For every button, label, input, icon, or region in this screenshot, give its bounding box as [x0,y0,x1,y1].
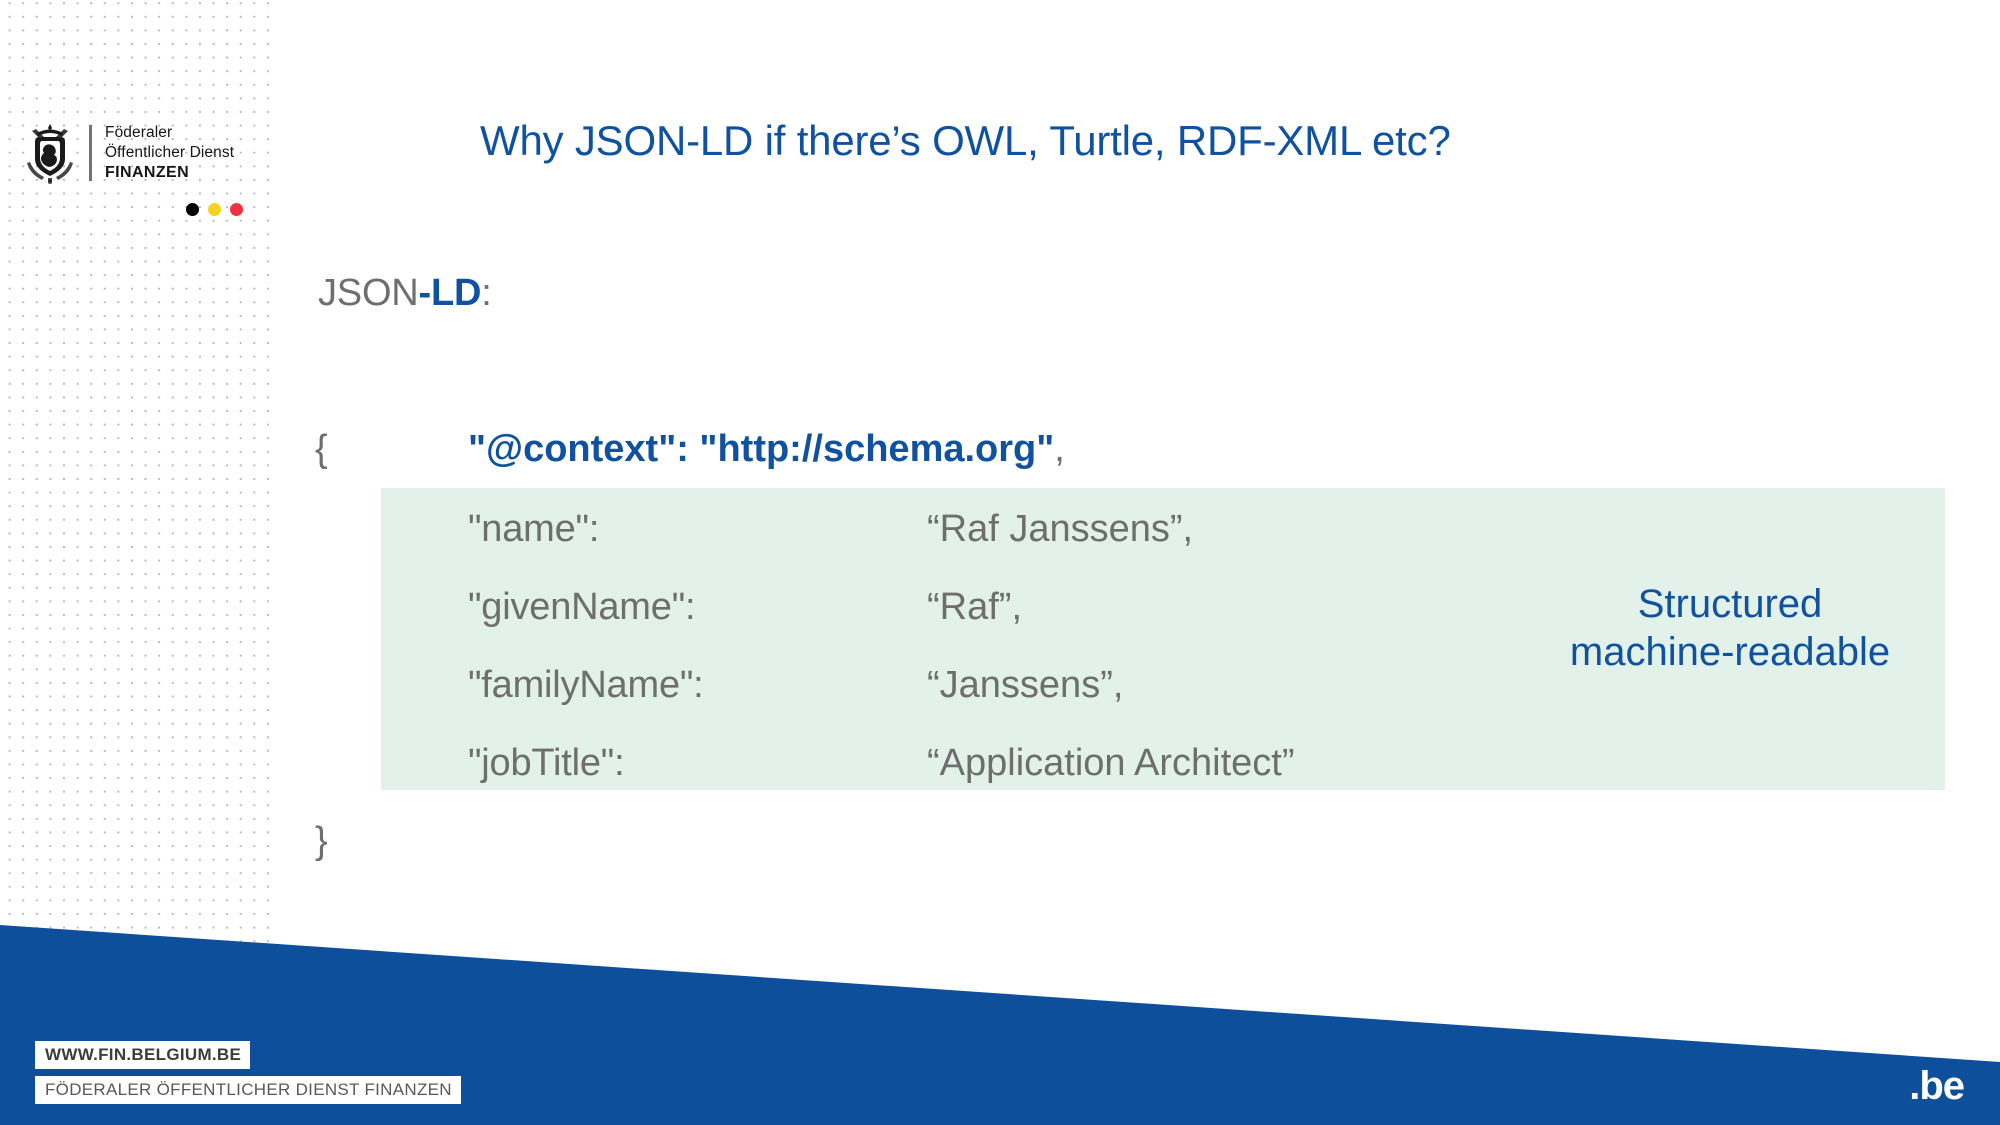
dot-red [230,203,243,216]
pair-key-job-title: "jobTitle": [468,742,624,785]
flag-dots [186,203,243,216]
annotation-line-2: machine-readable [1520,628,1940,676]
pair-value-job-title: “Application Architect” [927,742,1295,785]
context-comma: , [1054,428,1065,470]
footer-url: WWW.FIN.BELGIUM.BE [35,1041,250,1069]
context-line: "@context": "http://schema.org", [468,428,1065,471]
dot-yellow [208,203,221,216]
pair-key-given-name: "givenName": [468,586,695,629]
brand-logo: Föderaler Öffentlicher Dienst FINANZEN [24,122,234,184]
pair-value-name: “Raf Janssens”, [927,508,1193,551]
format-label: JSON-LD: [318,272,492,315]
dot-black [186,203,199,216]
coat-of-arms-icon [24,122,76,184]
close-brace: } [315,820,328,863]
pair-key-family-name: "familyName": [468,664,704,707]
page-title: Why JSON-LD if there’s OWL, Turtle, RDF-… [480,117,1660,165]
code-block: { "@context": "http://schema.org", "name… [0,0,2000,1125]
open-brace: { [315,428,328,471]
pair-key-name: "name": [468,508,599,551]
logo-divider [89,125,92,181]
brand-wordmark: Föderaler Öffentlicher Dienst FINANZEN [105,123,234,183]
be-logo: .be [1909,1066,1964,1106]
format-label-colon: : [481,272,491,314]
format-label-accent: -LD [419,272,482,314]
context-pair: "@context": "http://schema.org" [468,428,1054,470]
footer-organisation: FÖDERALER ÖFFENTLICHER DIENST FINANZEN [35,1076,461,1104]
annotation-callout: Structured machine-readable [1520,580,1940,676]
format-label-plain: JSON [318,272,419,314]
pair-value-family-name: “Janssens”, [927,664,1123,707]
pair-value-given-name: “Raf”, [927,586,1022,629]
annotation-line-1: Structured [1520,580,1940,628]
brand-line-1: Föderaler [105,123,234,143]
brand-line-3: FINANZEN [105,163,234,183]
brand-line-2: Öffentlicher Dienst [105,143,234,163]
